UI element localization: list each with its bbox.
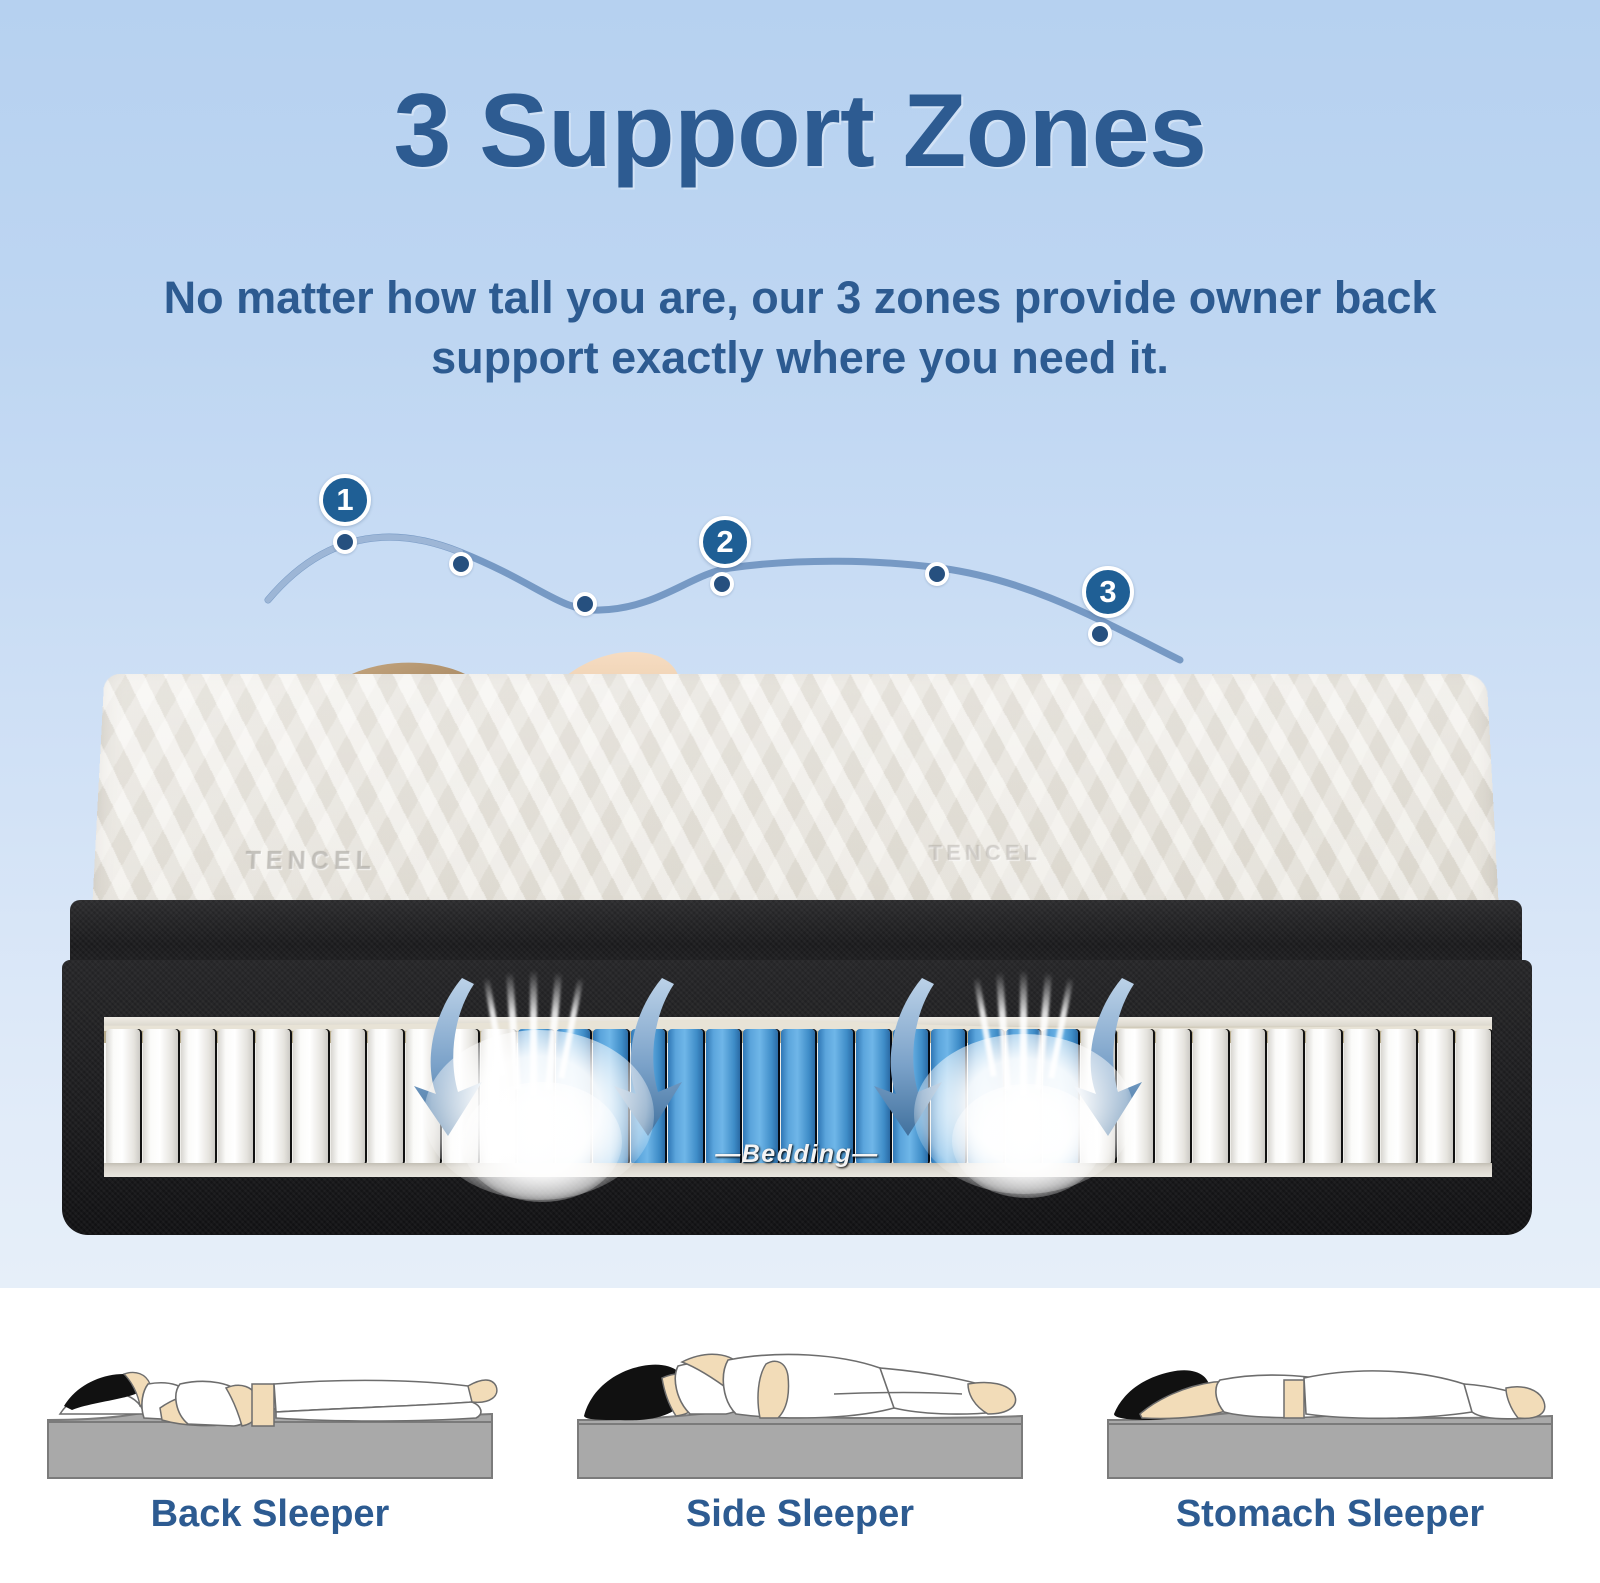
coil-white	[181, 1029, 216, 1165]
sleeper-label-stomach: Stomach Sleeper	[1080, 1493, 1580, 1536]
curve-dot	[449, 552, 473, 576]
zone-dot-2	[710, 572, 734, 596]
coil-white	[143, 1029, 178, 1165]
coil-white	[1381, 1029, 1416, 1165]
back-sleeper-illustration	[20, 1288, 520, 1488]
zone-dot-1	[333, 530, 357, 554]
curve-dot	[573, 592, 597, 616]
tencel-emboss-label-2: TENCEL	[928, 840, 1041, 866]
coil-white	[1268, 1029, 1303, 1165]
coil-white	[218, 1029, 253, 1165]
airflow-arrow	[874, 978, 942, 1136]
airflow-arrow	[1074, 978, 1142, 1136]
zone-badge-1: 1	[319, 474, 371, 526]
coil-white	[1306, 1029, 1341, 1165]
coil-white	[1456, 1029, 1491, 1165]
hero-section: 3 Support Zones No matter how tall you a…	[0, 0, 1600, 1288]
sleeper-positions-section: Back Sleeper Side Sleeper	[0, 1288, 1600, 1583]
bedding-brand-label: —Bedding—	[715, 1140, 879, 1169]
coil-white	[331, 1029, 366, 1165]
mattress-product-image: TENCEL TENCEL	[62, 672, 1532, 1237]
quilting-pattern	[91, 674, 1499, 923]
coil-white	[256, 1029, 291, 1165]
sleeper-card-stomach: Stomach Sleeper	[1080, 1288, 1580, 1583]
coil-white	[1419, 1029, 1454, 1165]
coil-white	[293, 1029, 328, 1165]
infographic-page: 3 Support Zones No matter how tall you a…	[0, 0, 1600, 1583]
sleeper-label-back: Back Sleeper	[20, 1493, 520, 1536]
curve-dot	[925, 562, 949, 586]
airflow-arrow	[414, 978, 482, 1136]
stomach-sleeper-illustration	[1080, 1288, 1580, 1488]
zone-badge-2: 2	[699, 516, 751, 568]
sleeper-card-side: Side Sleeper	[550, 1288, 1050, 1583]
sleeper-card-back: Back Sleeper	[20, 1288, 520, 1583]
sleeper-label-side: Side Sleeper	[550, 1493, 1050, 1536]
zone-badge-3: 3	[1082, 566, 1134, 618]
airflow-arrow	[614, 978, 682, 1136]
side-sleeper-illustration	[550, 1288, 1050, 1488]
page-subtitle: No matter how tall you are, our 3 zones …	[115, 268, 1485, 388]
mattress-pillow-top: TENCEL TENCEL	[91, 674, 1499, 923]
tencel-emboss-label: TENCEL	[245, 847, 377, 876]
coil-white	[106, 1029, 141, 1165]
page-title: 3 Support Zones	[0, 72, 1600, 191]
coil-white	[1344, 1029, 1379, 1165]
